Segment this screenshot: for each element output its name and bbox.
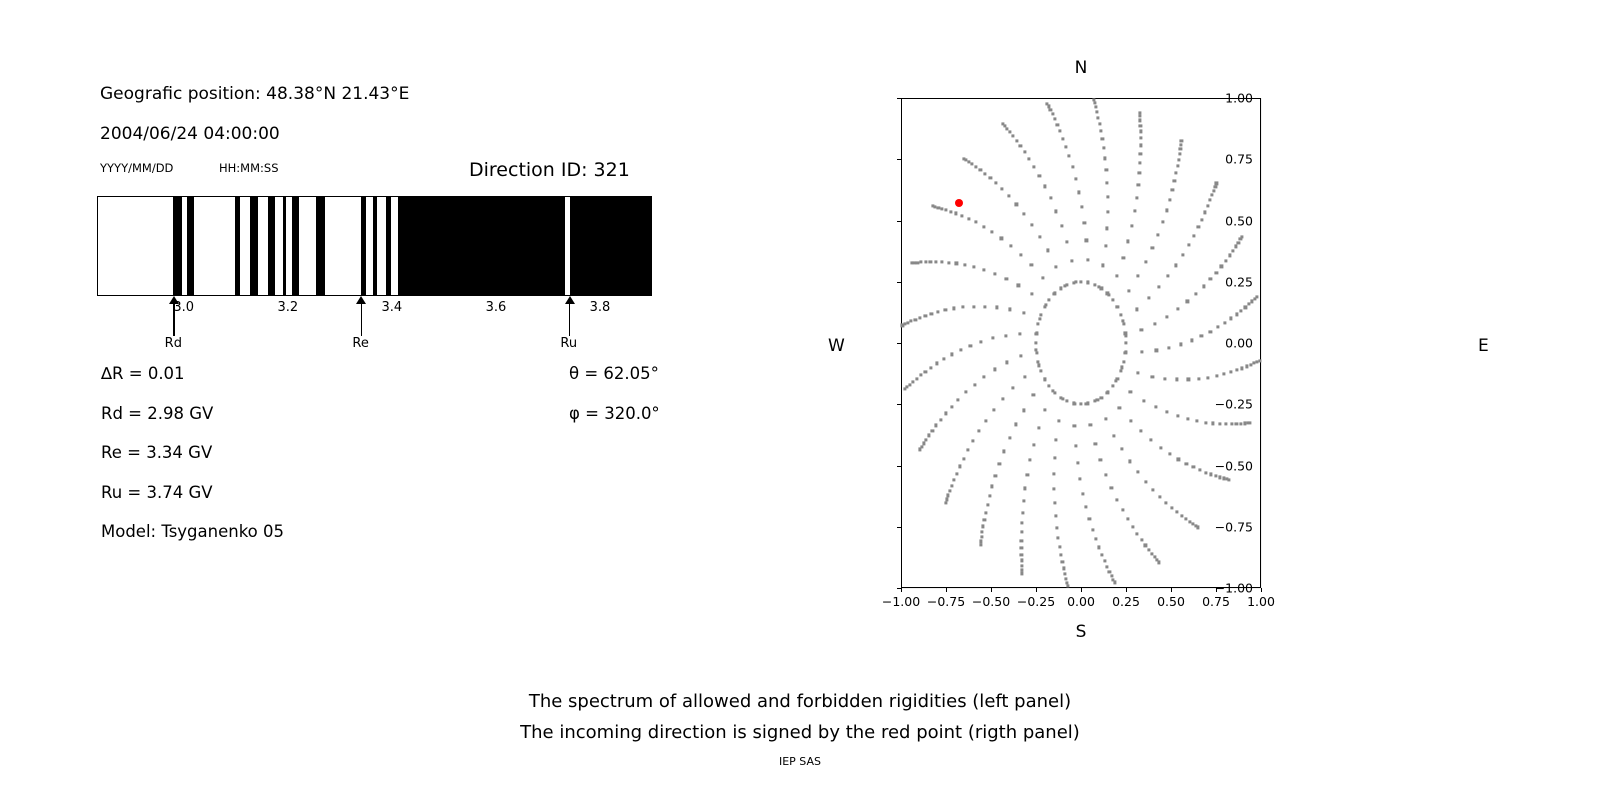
direction-point [1038, 364, 1041, 367]
direction-point [1184, 517, 1187, 520]
direction-point [958, 465, 961, 468]
direction-point [1235, 422, 1238, 425]
direction-point [994, 474, 997, 477]
direction-point [1106, 181, 1109, 184]
x-tick-label: 0.00 [1067, 594, 1095, 609]
direction-point [1200, 218, 1203, 221]
direction-plot-area: −1.00−0.75−0.50−0.250.000.250.500.751.00… [901, 98, 1261, 588]
direction-point [1006, 127, 1009, 130]
direction-point [1059, 396, 1062, 399]
direction-point [1020, 559, 1023, 562]
direction-point [967, 160, 970, 163]
direction-point [1065, 240, 1068, 243]
direction-point [1155, 349, 1158, 352]
direction-point [1097, 116, 1100, 119]
direction-point [1215, 182, 1218, 185]
direction-point [1230, 423, 1233, 426]
direction-point [1207, 376, 1210, 379]
direction-point [980, 340, 983, 343]
direction-point [1164, 377, 1167, 380]
direction-point [962, 157, 965, 160]
direction-point [1023, 375, 1026, 378]
direction-point [1064, 145, 1067, 148]
direction-point [936, 310, 939, 313]
direction-point [1071, 165, 1074, 168]
rigidity-marker-re: Re [361, 296, 362, 336]
direction-point [983, 268, 986, 271]
direction-point [1024, 487, 1027, 490]
parameter-row: Ru = 3.74 GV [101, 473, 284, 513]
direction-point [916, 261, 919, 264]
direction-point [1001, 397, 1004, 400]
direction-point [1158, 495, 1161, 498]
direction-point [1100, 396, 1103, 399]
direction-point [1116, 498, 1119, 501]
direction-point [1108, 570, 1111, 573]
direction-point [1001, 188, 1004, 191]
direction-point [1008, 130, 1011, 133]
direction-point [1072, 402, 1075, 405]
direction-point [1026, 473, 1029, 476]
figure-caption: The spectrum of allowed and forbidden ri… [0, 686, 1600, 748]
direction-point [1137, 274, 1140, 277]
direction-point [1030, 292, 1033, 295]
direction-point [980, 536, 983, 539]
direction-point [1060, 224, 1063, 227]
parameter-row: φ = 320.0° [569, 394, 660, 434]
plot-frame [901, 98, 1261, 588]
direction-point [1197, 526, 1200, 529]
direction-point [1055, 439, 1058, 442]
direction-point [1177, 158, 1180, 161]
direction-point [1165, 315, 1168, 318]
direction-point [1222, 372, 1225, 375]
direction-point [1122, 322, 1125, 325]
direction-point [1053, 502, 1056, 505]
x-tick-mark [1171, 588, 1172, 592]
direction-point [1139, 430, 1142, 433]
y-tick-label: 0.75 [1225, 152, 1253, 167]
direction-point [1120, 448, 1123, 451]
direction-point [1110, 486, 1113, 489]
forbidden-band [250, 196, 257, 296]
direction-point [1022, 500, 1025, 503]
direction-point [1104, 157, 1107, 160]
direction-point [1057, 419, 1060, 422]
direction-point [1200, 334, 1203, 337]
direction-point [1156, 233, 1159, 236]
direction-point [1067, 585, 1070, 588]
direction-point [1005, 361, 1008, 364]
direction-point [1020, 539, 1023, 542]
y-tick-label: −0.75 [1215, 519, 1253, 534]
direction-point [1192, 234, 1195, 237]
x-tick-label: −1.00 [882, 594, 920, 609]
direction-point [1057, 536, 1060, 539]
direction-point [1093, 102, 1096, 105]
direction-point [1127, 289, 1130, 292]
direction-point [1000, 237, 1003, 240]
direction-point [1017, 284, 1020, 287]
direction-point [1099, 459, 1102, 462]
direction-point [929, 260, 932, 263]
direction-point [1224, 259, 1227, 262]
direction-point [998, 462, 1001, 465]
direction-point [1168, 198, 1171, 201]
direction-point [942, 357, 945, 360]
direction-point [1240, 367, 1243, 370]
direction-point [1020, 553, 1023, 556]
direction-point [1083, 221, 1086, 224]
direction-point [955, 472, 958, 475]
direction-point [1012, 134, 1015, 137]
direction-point [1140, 539, 1143, 542]
direction-point [930, 312, 933, 315]
direction-point [1228, 254, 1231, 257]
caption-line-1: The spectrum of allowed and forbidden ri… [0, 686, 1600, 717]
parameter-list-right: θ = 62.05°φ = 320.0° [569, 354, 660, 433]
direction-id-label: Direction ID: 321 [469, 159, 630, 181]
direction-point [962, 457, 965, 460]
direction-point [1104, 418, 1107, 421]
forbidden-band [292, 196, 299, 296]
x-tick-mark [1216, 588, 1217, 592]
direction-point [1030, 223, 1033, 226]
direction-point [1055, 265, 1058, 268]
incoming-direction-point [955, 199, 963, 207]
direction-point [1129, 419, 1132, 422]
direction-point [1131, 526, 1134, 529]
direction-point [1072, 281, 1075, 284]
marker-shaft [361, 300, 362, 336]
direction-point [1046, 249, 1049, 252]
direction-point [955, 262, 958, 265]
direction-point [1053, 472, 1056, 475]
direction-point [1019, 332, 1022, 335]
direction-point [1133, 210, 1136, 213]
direction-point [991, 230, 994, 233]
compass-north-label: N [1075, 58, 1088, 78]
direction-point [952, 478, 955, 481]
direction-point [1157, 286, 1160, 289]
direction-point [1094, 442, 1097, 445]
direction-point [1116, 377, 1119, 380]
direction-point [1106, 210, 1109, 213]
direction-point [989, 177, 992, 180]
direction-point [1140, 350, 1143, 353]
direction-point [1179, 143, 1182, 146]
direction-point [1080, 205, 1083, 208]
direction-point [1161, 221, 1164, 224]
direction-point [1053, 118, 1056, 121]
direction-point [1247, 303, 1250, 306]
direction-point [1249, 421, 1252, 424]
direction-point [1138, 115, 1141, 118]
direction-point [1165, 411, 1168, 414]
direction-point [1206, 204, 1209, 207]
direction-point [1091, 528, 1094, 531]
direction-point [1039, 314, 1042, 317]
direction-point [1240, 309, 1243, 312]
direction-point [1139, 152, 1142, 155]
direction-point [1136, 371, 1139, 374]
direction-point [1212, 189, 1215, 192]
direction-point [1030, 264, 1033, 267]
direction-point [919, 374, 922, 377]
direction-point [1085, 239, 1088, 242]
direction-point [1164, 501, 1167, 504]
direction-point [1129, 391, 1132, 394]
direction-point [969, 344, 972, 347]
x-tick-label: 0.75 [1202, 594, 1230, 609]
direction-point [1059, 553, 1062, 556]
marker-label: Re [352, 336, 368, 351]
direction-point [991, 485, 994, 488]
direction-point [1106, 292, 1109, 295]
direction-point [1001, 122, 1004, 125]
direction-point [1068, 155, 1071, 158]
direction-point [1121, 508, 1124, 511]
forbidden-band [570, 196, 652, 296]
gridline-vertical [1261, 98, 1262, 588]
direction-point [1101, 264, 1104, 267]
direction-point [952, 307, 955, 310]
direction-point [1175, 511, 1178, 514]
direction-point [1043, 377, 1046, 380]
parameter-row: ∆R = 0.01 [101, 354, 284, 394]
direction-point [1124, 341, 1127, 344]
direction-point [1209, 199, 1212, 202]
direction-point [1038, 235, 1041, 238]
direction-point [963, 263, 966, 266]
direction-point [1103, 560, 1106, 563]
direction-point [1138, 172, 1141, 175]
forbidden-band [361, 196, 366, 296]
forbidden-band [268, 196, 275, 296]
direction-point [1218, 422, 1221, 425]
rigidity-tick-label: 3.8 [590, 300, 611, 315]
parameter-row: Re = 3.34 GV [101, 433, 284, 473]
y-tick-label: 0.50 [1225, 213, 1253, 228]
direction-point [1074, 177, 1077, 180]
marker-label: Rd [165, 336, 182, 351]
y-tick-mark [897, 404, 901, 405]
direction-point [1033, 165, 1036, 168]
direction-point [1061, 560, 1064, 563]
direction-point [1138, 111, 1141, 114]
rigidity-spectrum-bar [97, 196, 652, 296]
x-tick-mark [1081, 588, 1082, 592]
direction-point [978, 429, 981, 432]
direction-point [1168, 346, 1171, 349]
direction-point [1202, 285, 1205, 288]
direction-point [1179, 343, 1182, 346]
direction-point [1021, 572, 1024, 575]
direction-point [1187, 243, 1190, 246]
direction-point [1124, 351, 1127, 354]
direction-point [1196, 420, 1199, 423]
direction-point [1126, 518, 1129, 521]
direction-point [961, 214, 964, 217]
direction-point [1037, 360, 1040, 363]
direction-point [904, 387, 907, 390]
direction-point [957, 398, 960, 401]
direction-point [1214, 185, 1217, 188]
forbidden-band [283, 196, 287, 296]
forbidden-band [316, 196, 325, 296]
direction-point [1098, 122, 1101, 125]
direction-point [1139, 130, 1142, 133]
direction-point [1054, 514, 1057, 517]
geographic-position-label: Geografic position: 48.38°N 21.43°E [100, 84, 409, 104]
direction-point [1097, 546, 1100, 549]
direction-point [1168, 452, 1171, 455]
forbidden-band [187, 196, 194, 296]
direction-point [1106, 565, 1109, 568]
direction-point [988, 495, 991, 498]
direction-point [1136, 532, 1139, 535]
direction-point [1124, 332, 1127, 335]
direction-point [1209, 330, 1212, 333]
direction-point [1230, 317, 1233, 320]
direction-point [1055, 210, 1058, 213]
direction-point [1170, 506, 1173, 509]
direction-point [1039, 369, 1042, 372]
direction-point [1095, 110, 1098, 113]
direction-point [1171, 188, 1174, 191]
incoming-direction-panel: N S W E −1.00−0.75−0.50−0.250.000.250.50… [800, 0, 1600, 660]
direction-point [1225, 423, 1228, 426]
direction-point [1174, 264, 1177, 267]
direction-point [1159, 446, 1162, 449]
direction-point [1106, 227, 1109, 230]
rigidity-tick-label: 3.6 [486, 300, 507, 315]
y-tick-label: −0.25 [1215, 397, 1253, 412]
direction-point [1100, 553, 1103, 556]
direction-point [959, 348, 962, 351]
direction-point [1008, 308, 1011, 311]
direction-point [906, 321, 909, 324]
direction-point [931, 205, 934, 208]
direction-point [1135, 308, 1138, 311]
direction-point [1144, 544, 1147, 547]
direction-point [1229, 371, 1232, 374]
direction-point [1135, 196, 1138, 199]
direction-point [995, 306, 998, 309]
direction-point [1049, 108, 1052, 111]
direction-point [1190, 339, 1193, 342]
direction-point [1084, 505, 1087, 508]
direction-point [1144, 260, 1147, 263]
arrow-up-icon [565, 296, 575, 304]
direction-point [1066, 283, 1069, 286]
forbidden-band [373, 196, 377, 296]
direction-point [1197, 226, 1200, 229]
direction-point [1015, 139, 1018, 142]
direction-point [1043, 305, 1046, 308]
direction-point [1086, 402, 1089, 405]
direction-point [1015, 203, 1018, 206]
direction-point [929, 366, 932, 369]
direction-point [1023, 150, 1026, 153]
direction-point [901, 324, 904, 327]
direction-point [971, 163, 974, 166]
direction-point [950, 405, 953, 408]
forbidden-band [386, 196, 392, 296]
direction-point [1231, 249, 1234, 252]
direction-point [1198, 469, 1201, 472]
direction-point [1177, 458, 1180, 461]
direction-point [1212, 422, 1215, 425]
parameter-row: Rd = 2.98 GV [101, 394, 284, 434]
direction-point [982, 225, 985, 228]
direction-point [1176, 414, 1179, 417]
footer-label: IEP SAS [0, 755, 1600, 768]
direction-point [981, 531, 984, 534]
direction-point [1120, 369, 1123, 372]
direction-point [1113, 581, 1116, 584]
direction-point [972, 305, 975, 308]
forbidden-band [235, 196, 240, 296]
direction-point [1043, 409, 1046, 412]
direction-point [1220, 265, 1223, 268]
compass-south-label: S [1076, 622, 1087, 642]
y-tick-label: 0.25 [1225, 274, 1253, 289]
x-tick-label: −0.50 [972, 594, 1010, 609]
direction-point [1175, 172, 1178, 175]
direction-point [910, 320, 913, 323]
direction-point [974, 221, 977, 224]
direction-point [1234, 245, 1237, 248]
direction-point [918, 448, 921, 451]
direction-point [950, 484, 953, 487]
parameter-row: Model: Tsyganenko 05 [101, 512, 284, 552]
direction-point [1053, 488, 1056, 491]
direction-point [1021, 511, 1024, 514]
direction-point [973, 265, 976, 268]
direction-point [924, 438, 927, 441]
direction-point [1147, 296, 1150, 299]
x-tick-mark [1036, 588, 1037, 592]
direction-point [983, 518, 986, 521]
direction-point [1255, 295, 1258, 298]
y-tick-mark [897, 159, 901, 160]
rigidity-tick-label: 3.4 [382, 300, 403, 315]
direction-point [1126, 240, 1129, 243]
direction-point [1215, 374, 1218, 377]
y-tick-mark [897, 221, 901, 222]
direction-point [1022, 311, 1025, 314]
direction-point [993, 368, 996, 371]
direction-point [1037, 427, 1040, 430]
direction-point [1151, 375, 1154, 378]
direction-point [1004, 334, 1007, 337]
direction-point [1089, 424, 1092, 427]
direction-point [1209, 473, 1212, 476]
direction-point [1066, 400, 1069, 403]
direction-point [964, 391, 967, 394]
direction-point [1116, 305, 1119, 308]
rigidity-tick-label: 3.2 [277, 300, 298, 315]
direction-point [994, 182, 997, 185]
direction-point [1029, 458, 1032, 461]
direction-point [924, 260, 927, 263]
direction-point [1011, 386, 1014, 389]
direction-point [1094, 538, 1097, 541]
direction-point [984, 511, 987, 514]
direction-point [1053, 456, 1056, 459]
direction-point [1074, 444, 1077, 447]
